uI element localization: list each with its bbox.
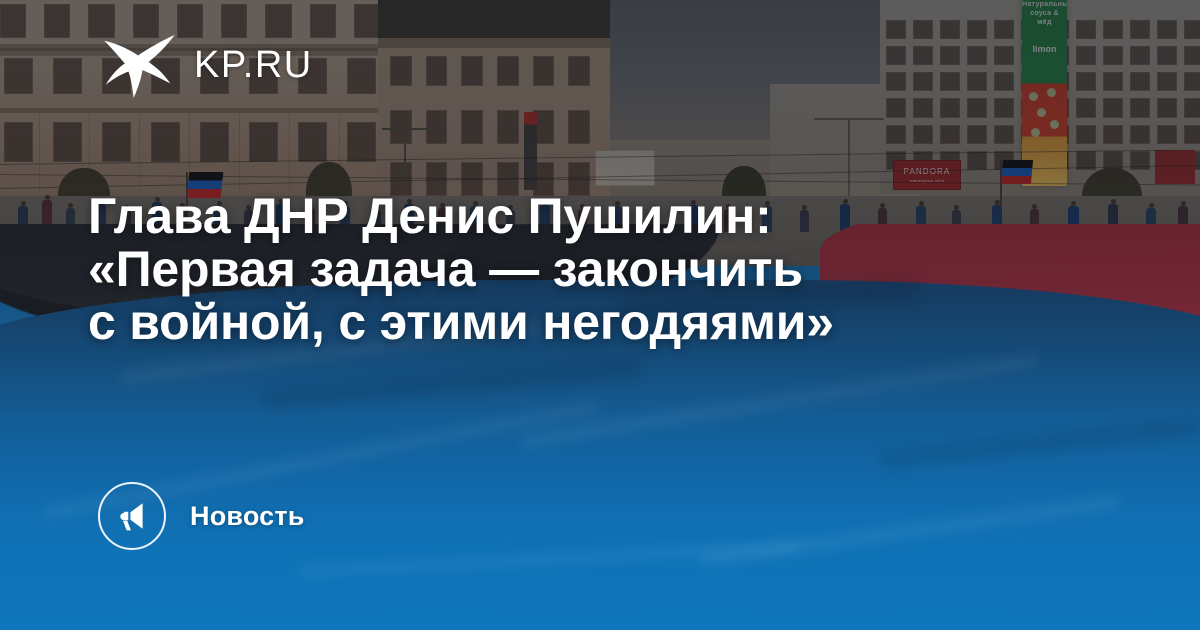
megaphone-icon [115, 499, 149, 533]
kpru-wordmark: KP.RU [194, 46, 313, 84]
megaphone-icon-ring [98, 482, 166, 550]
status-badge-label: Новость [190, 501, 305, 532]
headline-line-2: «Первая задача — закончить [88, 243, 1068, 296]
news-share-card: Натуральные соуса & мёд limon PANDORA юв… [0, 0, 1200, 630]
headline-line-1: Глава ДНР Денис Пушилин: [88, 190, 1068, 243]
headline-line-3: с войной, с этими негодяями» [88, 296, 1068, 349]
page-title: Глава ДНР Денис Пушилин: «Первая задача … [88, 190, 1068, 349]
brand-lockup[interactable]: KP.RU [104, 32, 313, 98]
swallow-bird-icon [104, 32, 178, 98]
status-badge[interactable]: Новость [98, 482, 305, 550]
